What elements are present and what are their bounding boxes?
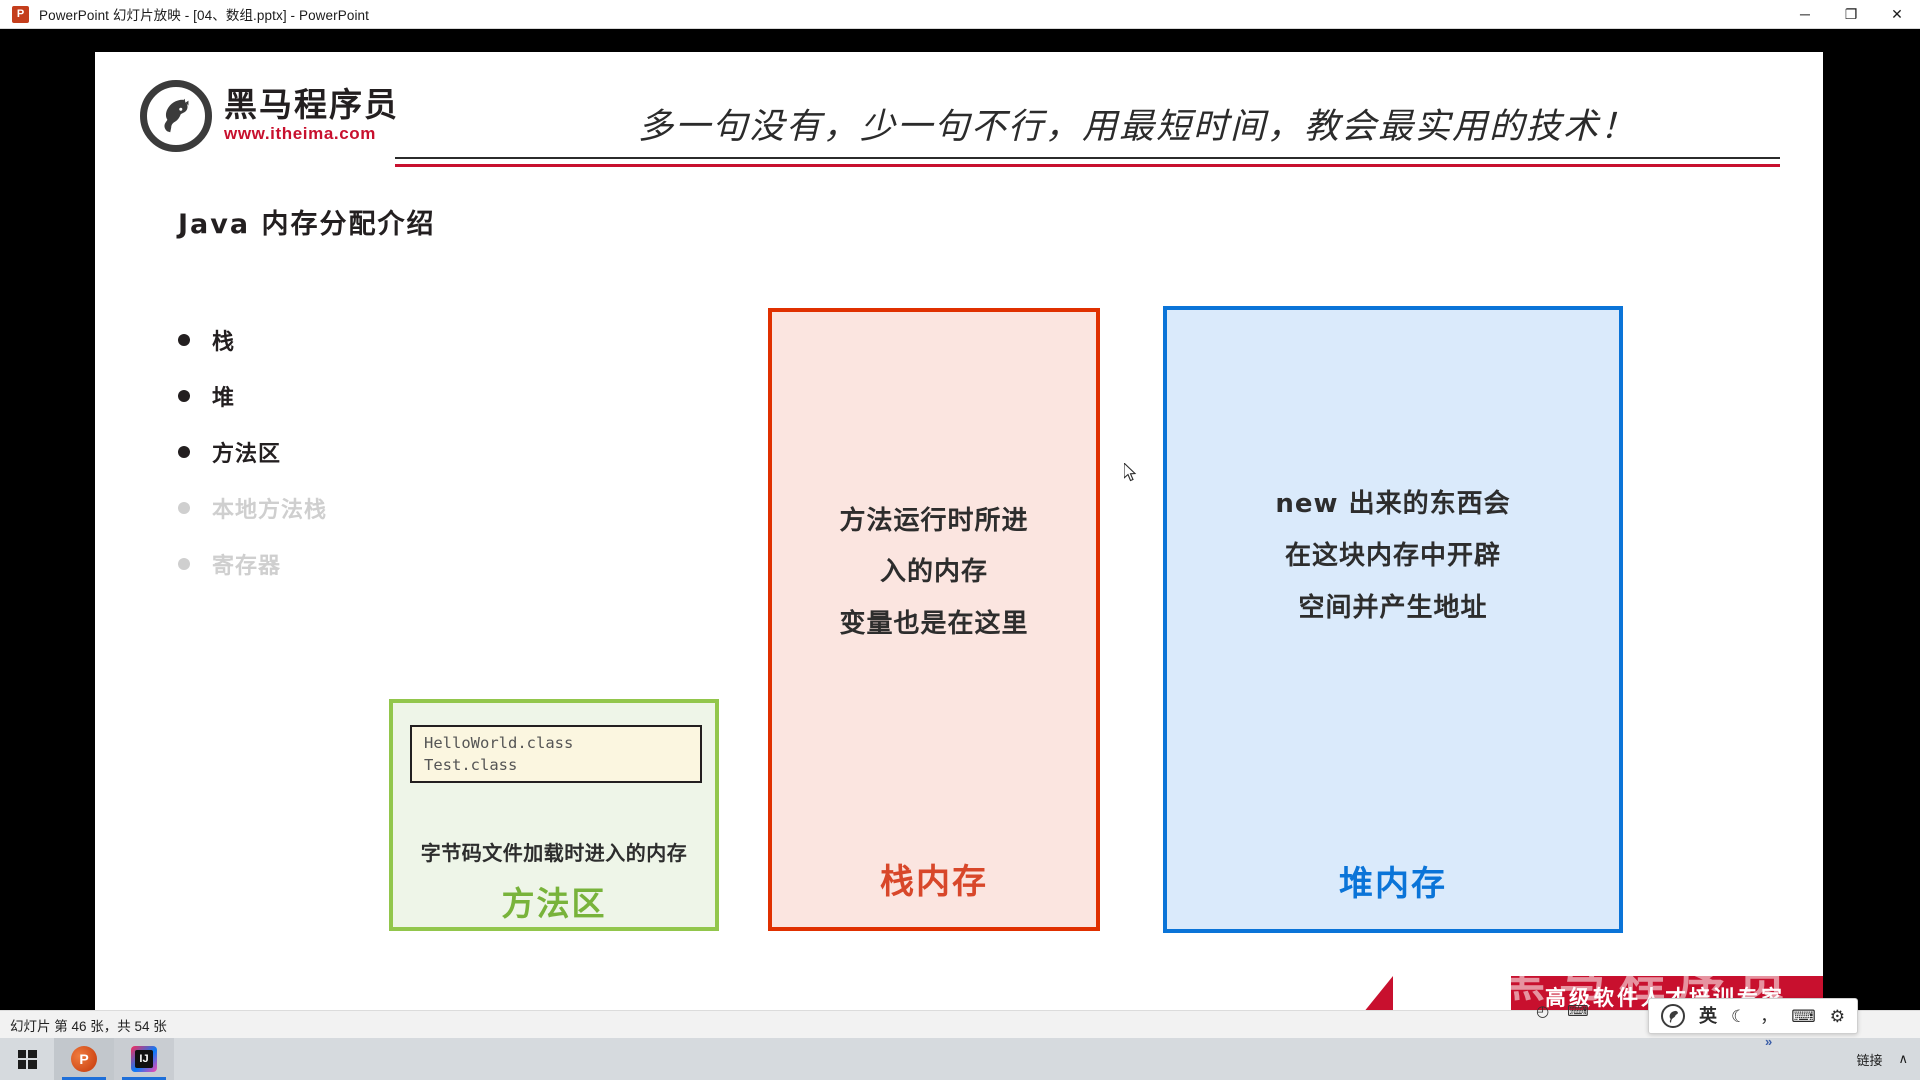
soft-keyboard-icon[interactable]: ⌨ — [1791, 1008, 1816, 1025]
taskbar-item-intellij[interactable]: IJ — [114, 1038, 174, 1080]
system-tray: 链接 ∧ — [1856, 1050, 1920, 1069]
bullet-dot-icon — [178, 390, 190, 402]
tray-link-label[interactable]: 链接 — [1856, 1050, 1882, 1069]
ime-secondary-icons: ◴ ⌨ — [1536, 1004, 1589, 1019]
punctuation-icon[interactable]: ， — [1760, 1008, 1777, 1025]
header-divider-dark — [395, 157, 1780, 159]
list-item-label: 寄存器 — [212, 548, 281, 580]
slideshow-stage[interactable]: 黑马程序员 www.itheima.com 多一句没有，少一句不行，用最短时间，… — [0, 29, 1920, 1010]
list-item: 堆 — [178, 380, 327, 412]
chevron-up-icon[interactable]: ∧ — [1898, 1051, 1908, 1067]
sogou-logo-icon[interactable] — [1661, 1004, 1685, 1028]
method-area-note: 字节码文件加载时进入的内存 — [393, 837, 715, 866]
method-area-label: 方法区 — [393, 877, 715, 925]
bullet-dot-icon — [178, 446, 190, 458]
status-bar: 幻灯片 第 46 张，共 54 张 — [0, 1010, 1920, 1038]
heap-memory-description: new 出来的东西会 在这块内存中开辟 空间并产生地址 — [1167, 478, 1619, 634]
stack-memory-label: 栈内存 — [772, 854, 1096, 903]
gear-icon[interactable]: ⚙ — [1830, 1008, 1845, 1025]
list-item-label: 堆 — [212, 380, 235, 412]
horse-head-icon — [140, 80, 212, 152]
mouse-cursor-icon — [1124, 463, 1138, 483]
heap-memory-box: new 出来的东西会 在这块内存中开辟 空间并产生地址 堆内存 — [1163, 306, 1623, 933]
window-title: PowerPoint 幻灯片放映 - [04、数组.pptx] - PowerP… — [39, 4, 369, 24]
maximize-button[interactable]: ❐ — [1828, 0, 1874, 29]
brand-logo: 黑马程序员 www.itheima.com — [140, 80, 399, 152]
ime-expand-icon[interactable]: » — [1765, 1034, 1772, 1049]
slide-counter: 幻灯片 第 46 张，共 54 张 — [10, 1015, 167, 1035]
list-item-label: 方法区 — [212, 436, 281, 468]
start-button[interactable] — [0, 1038, 54, 1080]
list-item: 寄存器 — [178, 548, 327, 580]
ime-mode-label[interactable]: 英 — [1699, 1007, 1717, 1025]
heap-memory-label: 堆内存 — [1167, 856, 1619, 905]
taskbar-item-powerpoint[interactable]: P — [54, 1038, 114, 1080]
brand-url: www.itheima.com — [224, 124, 399, 144]
powerpoint-icon: P — [12, 6, 29, 23]
header-divider-red — [395, 164, 1780, 167]
taskbar: P IJ 链接 ∧ — [0, 1038, 1920, 1080]
windows-logo-icon — [18, 1050, 37, 1069]
moon-icon[interactable]: ☾ — [1731, 1008, 1746, 1025]
clock-icon[interactable]: ◴ — [1536, 1004, 1549, 1019]
minimize-button[interactable]: ─ — [1782, 0, 1828, 29]
window-titlebar: P PowerPoint 幻灯片放映 - [04、数组.pptx] - Powe… — [0, 0, 1920, 29]
bullet-dot-icon — [178, 502, 190, 514]
screen: P PowerPoint 幻灯片放映 - [04、数组.pptx] - Powe… — [0, 0, 1920, 1080]
page-title: Java 内存分配介绍 — [178, 202, 436, 241]
stack-memory-description: 方法运行时所进 入的内存 变量也是在这里 — [772, 496, 1096, 650]
list-item-label: 栈 — [212, 324, 235, 356]
stack-memory-box: 方法运行时所进 入的内存 变量也是在这里 栈内存 — [768, 308, 1100, 931]
bullet-dot-icon — [178, 334, 190, 346]
class-files-box: HelloWorld.class Test.class — [410, 725, 702, 783]
list-item-label: 本地方法栈 — [212, 492, 327, 524]
bullet-dot-icon — [178, 558, 190, 570]
slide-tagline: 多一句没有，少一句不行，用最短时间，教会最实用的技术！ — [495, 98, 1780, 149]
memory-area-list: 栈 堆 方法区 本地方法栈 寄存器 — [178, 324, 327, 604]
keyboard-icon[interactable]: ⌨ — [1567, 1004, 1589, 1019]
list-item: 本地方法栈 — [178, 492, 327, 524]
list-item: 栈 — [178, 324, 327, 356]
intellij-idea-icon: IJ — [131, 1046, 157, 1072]
list-item: 方法区 — [178, 436, 327, 468]
ime-toolbar[interactable]: 英 ☾ ， ⌨ ⚙ — [1648, 998, 1858, 1034]
brand-name: 黑马程序员 — [224, 88, 399, 123]
window-controls: ─ ❐ ✕ — [1782, 0, 1920, 29]
method-area-box: HelloWorld.class Test.class 字节码文件加载时进入的内… — [389, 699, 719, 931]
slide-canvas[interactable]: 黑马程序员 www.itheima.com 多一句没有，少一句不行，用最短时间，… — [95, 52, 1823, 1018]
powerpoint-icon: P — [71, 1046, 97, 1072]
close-button[interactable]: ✕ — [1874, 0, 1920, 29]
